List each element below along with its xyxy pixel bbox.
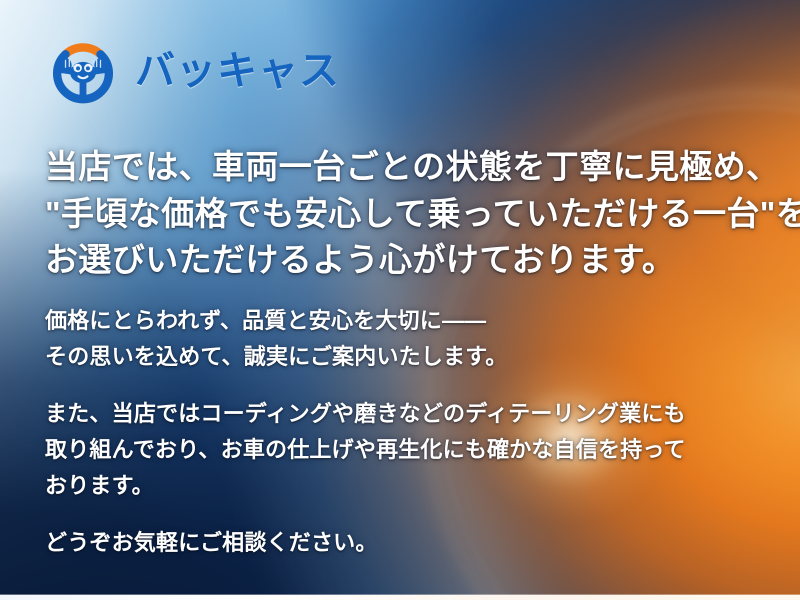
paragraph-1: 価格にとらわれず、品質と安心を大切に—— その思いを込めて、誠実にご案内いたしま…	[45, 303, 775, 374]
paragraph-2: また、当店ではコーディングや磨きなどのディテーリング業にも 取り組んでおり、お車…	[45, 396, 775, 503]
body-copy-block: 価格にとらわれず、品質と安心を大切に—— その思いを込めて、誠実にご案内いたしま…	[45, 303, 775, 561]
paragraph-2-line-1: また、当店ではコーディングや磨きなどのディテーリング業にも	[45, 396, 775, 432]
paragraph-1-line-2: その思いを込めて、誠実にご案内いたします。	[45, 339, 775, 375]
paragraph-2-line-2: 取り組んでおり、お車の仕上げや再生化にも確かな自信を持って	[45, 432, 775, 468]
paragraph-1-line-1: 価格にとらわれず、品質と安心を大切に——	[45, 303, 775, 339]
brand-logo: バッキャス	[45, 33, 340, 109]
brand-name: バッキャス	[135, 51, 340, 91]
headline-line-2: "手頃な価格でも安心して乗っていただける一台"を	[45, 191, 765, 238]
promo-banner: バッキャス 当店では、車両一台ごとの状態を丁寧に見極め、 "手頃な価格でも安心し…	[0, 0, 800, 600]
paragraph-3: どうぞお気軽にご相談ください。	[45, 525, 775, 561]
headline-line-3: お選びいただけるよう心がけております。	[45, 237, 765, 284]
paragraph-2-line-3: おります。	[45, 468, 775, 504]
headline-block: 当店では、車両一台ごとの状態を丁寧に見極め、 "手頃な価格でも安心して乗っていた…	[45, 144, 765, 284]
banner-content: バッキャス 当店では、車両一台ごとの状態を丁寧に見極め、 "手頃な価格でも安心し…	[0, 0, 800, 600]
headline-line-1: 当店では、車両一台ごとの状態を丁寧に見極め、	[45, 144, 765, 191]
steering-wheel-mascot-icon	[45, 33, 121, 109]
paragraph-3-line-1: どうぞお気軽にご相談ください。	[45, 525, 775, 561]
